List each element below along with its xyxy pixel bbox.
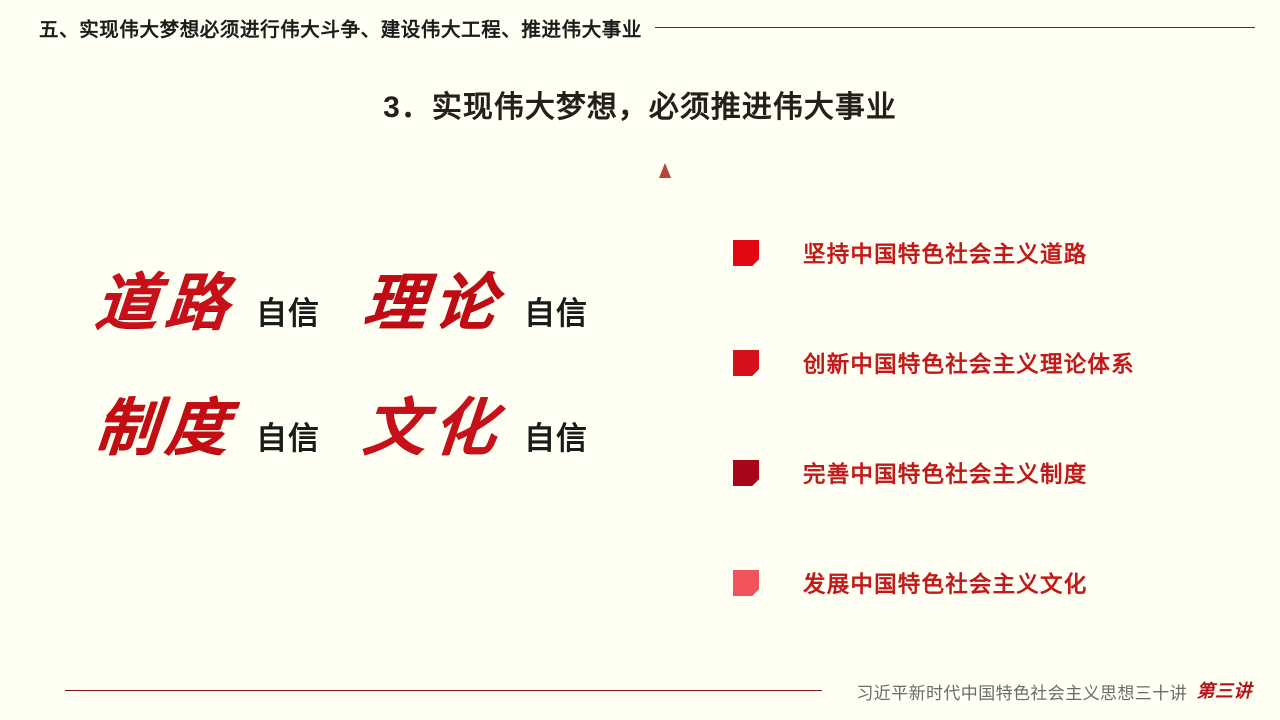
confidence-row: 制度 自信 文化 自信	[96, 397, 656, 522]
key-points-list: 坚持中国特色社会主义道路 创新中国特色社会主义理论体系 完善中国特色社会主义制度…	[733, 198, 1253, 638]
slide-canvas: 五、实现伟大梦想必须进行伟大斗争、建设伟大工程、推进伟大事业 3．实现伟大梦想，…	[0, 0, 1280, 720]
list-item-label: 创新中国特色社会主义理论体系	[803, 347, 1135, 379]
header-divider-line	[655, 27, 1255, 28]
confidence-label-wenhua: 自信	[524, 413, 588, 458]
list-item[interactable]: 发展中国特色社会主义文化	[733, 528, 1253, 638]
header-section-title: 五、实现伟大梦想必须进行伟大斗争、建设伟大工程、推进伟大事业	[39, 13, 642, 42]
footer-divider-line	[65, 690, 822, 691]
list-item[interactable]: 坚持中国特色社会主义道路	[733, 198, 1253, 308]
confidence-label-lilun: 自信	[524, 288, 588, 333]
square-bullet-icon	[733, 350, 759, 376]
footer-lecture-number: 第三讲	[1197, 677, 1253, 703]
page-title: 3．实现伟大梦想，必须推进伟大事业	[0, 82, 1280, 126]
square-bullet-icon	[733, 460, 759, 486]
upward-arrow-icon	[649, 163, 681, 593]
list-item-label: 坚持中国特色社会主义道路	[803, 237, 1087, 269]
square-bullet-icon	[733, 240, 759, 266]
square-bullet-icon	[733, 570, 759, 596]
confidence-pair-wenhua: 文化 自信	[364, 397, 588, 459]
confidence-label-daolu: 自信	[256, 288, 320, 333]
list-item-label: 发展中国特色社会主义文化	[803, 567, 1087, 599]
calligraphy-keyword-daolu: 道路	[93, 272, 238, 334]
confidence-pair-zhidu: 制度 自信	[96, 397, 364, 459]
list-item[interactable]: 完善中国特色社会主义制度	[733, 418, 1253, 528]
confidence-pair-daolu: 道路 自信	[96, 272, 364, 334]
list-item[interactable]: 创新中国特色社会主义理论体系	[733, 308, 1253, 418]
confidence-row: 道路 自信 理论 自信	[96, 272, 656, 397]
confidence-pair-lilun: 理论 自信	[364, 272, 588, 334]
calligraphy-keyword-lilun: 理论	[361, 272, 506, 334]
calligraphy-keyword-wenhua: 文化	[361, 397, 506, 459]
slide-header: 五、实现伟大梦想必须进行伟大斗争、建设伟大工程、推进伟大事业	[0, 0, 1280, 54]
footer-series-title: 习近平新时代中国特色社会主义思想三十讲	[856, 679, 1187, 704]
calligraphy-keyword-zhidu: 制度	[93, 397, 238, 459]
confidence-label-zhidu: 自信	[256, 413, 320, 458]
list-item-label: 完善中国特色社会主义制度	[803, 457, 1087, 489]
four-confidences-group: 道路 自信 理论 自信 制度 自信 文化 自信	[96, 272, 656, 522]
